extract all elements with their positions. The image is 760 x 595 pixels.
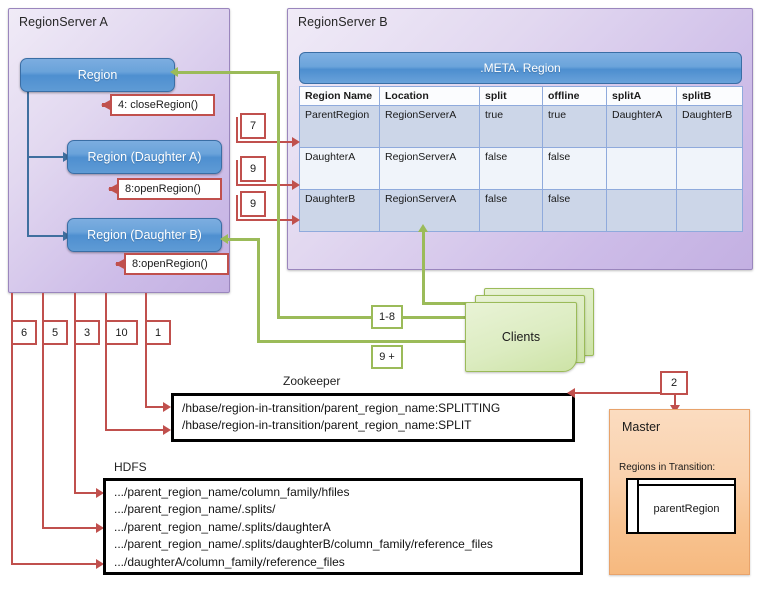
meta-arrow-9a-riser xyxy=(236,160,238,186)
route-3-horizontal xyxy=(74,492,98,494)
route-5-vertical xyxy=(42,345,44,528)
meta-arrow-label-9a-text: 9 xyxy=(250,163,256,175)
meta-arrow-label-9b: 9 xyxy=(240,191,266,217)
route-10-horizontal xyxy=(105,429,165,431)
table-row: DaughterB RegionServerA false false xyxy=(300,190,743,232)
route-3-vertical xyxy=(74,345,76,493)
master-arrow-label-2: 2 xyxy=(660,371,688,395)
table-col-offline: offline xyxy=(543,87,607,106)
cell-offline: false xyxy=(543,190,607,232)
regionserver-b-title: RegionServer B xyxy=(298,15,388,29)
table-row: ParentRegion RegionServerA true true Dau… xyxy=(300,106,743,148)
route-1-horizontal xyxy=(145,406,165,408)
table-col-location: Location xyxy=(380,87,480,106)
meta-region-title: .META. Region xyxy=(480,61,560,75)
meta-region-table: Region Name Location split offline split… xyxy=(299,86,742,232)
meta-arrow-label-9a: 9 xyxy=(240,156,266,182)
cell-split: false xyxy=(480,148,543,190)
route-10-vertical xyxy=(105,345,107,430)
zookeeper-box: /hbase/region-in-transition/parent_regio… xyxy=(171,393,575,442)
meta-region-header: .META. Region xyxy=(299,52,742,84)
cell-splitb xyxy=(677,190,743,232)
meta-arrow-7-head xyxy=(292,137,300,147)
clients-to-region-arrowhead xyxy=(170,67,178,77)
cell-offline: true xyxy=(543,106,607,148)
clients-to-daughterb-arrowhead xyxy=(220,234,228,244)
meta-arrow-9a-line xyxy=(236,184,294,186)
step-riser-10 xyxy=(105,293,107,321)
regionserver-a-title: RegionServer A xyxy=(19,15,108,29)
clients-to-daughterb-vertical xyxy=(257,238,260,343)
clients-to-region-vertical xyxy=(277,71,280,319)
master-arrow-head-left xyxy=(567,388,575,398)
cell-region-name: DaughterB xyxy=(300,190,380,232)
clients-arrow-label-1-8-text: 1-8 xyxy=(379,311,395,323)
clients-to-meta-arrowhead xyxy=(418,224,428,232)
zookeeper-line-1: /hbase/region-in-transition/parent_regio… xyxy=(182,400,572,417)
hdfs-line-4: .../parent_region_name/.splits/daughterB… xyxy=(114,536,580,553)
cell-splita: DaughterA xyxy=(607,106,677,148)
region-daughter-b-label: Region (Daughter B) xyxy=(87,228,202,242)
hdfs-line-5: .../daughterA/column_family/reference_fi… xyxy=(114,554,580,571)
region-daughter-a-block[interactable]: Region (Daughter A) xyxy=(67,140,222,174)
hdfs-line-3: .../parent_region_name/.splits/daughterA xyxy=(114,519,580,536)
cell-offline: false xyxy=(543,148,607,190)
cell-location: RegionServerA xyxy=(380,106,480,148)
cell-splita xyxy=(607,190,677,232)
cell-location: RegionServerA xyxy=(380,190,480,232)
route-10-arrowhead xyxy=(163,425,171,435)
region-daughter-b-block[interactable]: Region (Daughter B) xyxy=(67,218,222,252)
table-col-splitb: splitB xyxy=(677,87,743,106)
hdfs-line-1: .../parent_region_name/column_family/hfi… xyxy=(114,484,580,501)
clients-arrow-label-9plus-text: 9 + xyxy=(379,351,395,363)
route-5-horizontal xyxy=(42,527,98,529)
route-1-vertical xyxy=(145,345,147,407)
region-parent-label: Region xyxy=(78,68,118,82)
zookeeper-label: Zookeeper xyxy=(283,374,340,388)
hdfs-box: .../parent_region_name/column_family/hfi… xyxy=(103,478,583,575)
zookeeper-line-2: /hbase/region-in-transition/parent_regio… xyxy=(182,417,572,434)
step-label-6-text: 6 xyxy=(21,327,27,339)
cell-splitb: DaughterB xyxy=(677,106,743,148)
step-label-6: 6 xyxy=(11,320,37,345)
region-tree-connector-vertical xyxy=(27,88,29,237)
region-daughter-a-label: Region (Daughter A) xyxy=(88,150,202,164)
hdfs-label: HDFS xyxy=(114,460,147,474)
region-tree-connector-branch-a xyxy=(27,156,63,158)
clients-arrow-label-9plus: 9 + xyxy=(371,345,403,369)
table-header-row: Region Name Location split offline split… xyxy=(300,87,743,106)
table-col-split: split xyxy=(480,87,543,106)
callout-close-region: 4: closeRegion() xyxy=(110,94,215,116)
route-6-vertical xyxy=(11,345,13,564)
callout-close-region-label: 4: closeRegion() xyxy=(118,99,198,111)
meta-arrow-label-7: 7 xyxy=(240,113,266,139)
callout-open-region-b-label: 8:openRegion() xyxy=(132,258,208,270)
hdfs-line-2: .../parent_region_name/.splits/ xyxy=(114,501,580,518)
meta-arrow-9b-head xyxy=(292,215,300,225)
region-tree-connector-branch-b xyxy=(27,235,63,237)
clients-to-daughterb-horizontal xyxy=(228,238,259,241)
regions-in-transition-table: parentRegion xyxy=(626,478,736,534)
step-label-1: 1 xyxy=(145,320,171,345)
clients-sheet-front[interactable]: Clients xyxy=(465,302,577,372)
route-1-arrowhead xyxy=(163,402,171,412)
step-label-5: 5 xyxy=(42,320,68,345)
step-label-5-text: 5 xyxy=(52,327,58,339)
step-label-10: 10 xyxy=(105,320,138,345)
meta-arrow-9b-riser xyxy=(236,195,238,221)
cell-splita xyxy=(607,148,677,190)
rit-row-selector-cell xyxy=(628,480,639,532)
step-label-3-text: 3 xyxy=(84,327,90,339)
rit-value-column: parentRegion xyxy=(639,480,734,532)
step-riser-6 xyxy=(11,293,13,321)
meta-arrow-9a-head xyxy=(292,180,300,190)
regions-in-transition-label: Regions in Transition: xyxy=(619,462,715,473)
callout-open-region-b: 8:openRegion() xyxy=(124,253,229,275)
master-container: Master Regions in Transition: parentRegi… xyxy=(609,409,750,575)
step-riser-3 xyxy=(74,293,76,321)
cell-split: true xyxy=(480,106,543,148)
cell-region-name: DaughterA xyxy=(300,148,380,190)
cell-region-name: ParentRegion xyxy=(300,106,380,148)
step-label-3: 3 xyxy=(74,320,100,345)
step-label-1-text: 1 xyxy=(155,327,161,339)
diagram-canvas: RegionServer A Region Region (Daughter A… xyxy=(0,0,760,595)
meta-arrow-7-riser xyxy=(236,117,238,143)
clients-arrow-label-1-8: 1-8 xyxy=(371,305,403,329)
step-riser-5 xyxy=(42,293,44,321)
master-title: Master xyxy=(622,420,660,434)
master-arrow-label-2-text: 2 xyxy=(671,377,677,389)
clients-to-daughterb-base xyxy=(257,340,469,343)
table-row: DaughterA RegionServerA false false xyxy=(300,148,743,190)
callout-open-region-a: 8:openRegion() xyxy=(117,178,222,200)
clients-label: Clients xyxy=(502,330,540,344)
route-6-horizontal xyxy=(11,563,98,565)
meta-arrow-9b-line xyxy=(236,219,294,221)
meta-arrow-7-line xyxy=(236,141,294,143)
region-parent-block[interactable]: Region xyxy=(20,58,175,92)
step-label-10-text: 10 xyxy=(115,327,127,339)
meta-arrow-label-9b-text: 9 xyxy=(250,198,256,210)
meta-arrow-label-7-text: 7 xyxy=(250,120,256,132)
cell-splitb xyxy=(677,148,743,190)
step-riser-1 xyxy=(145,293,147,321)
cell-location: RegionServerA xyxy=(380,148,480,190)
clients-to-meta-riser xyxy=(422,232,425,305)
callout-open-region-a-label: 8:openRegion() xyxy=(125,183,201,195)
clients-to-region-horizontal xyxy=(178,71,279,74)
rit-region-value: parentRegion xyxy=(639,486,734,532)
table-col-region-name: Region Name xyxy=(300,87,380,106)
table-col-splita: splitA xyxy=(607,87,677,106)
cell-split: false xyxy=(480,190,543,232)
